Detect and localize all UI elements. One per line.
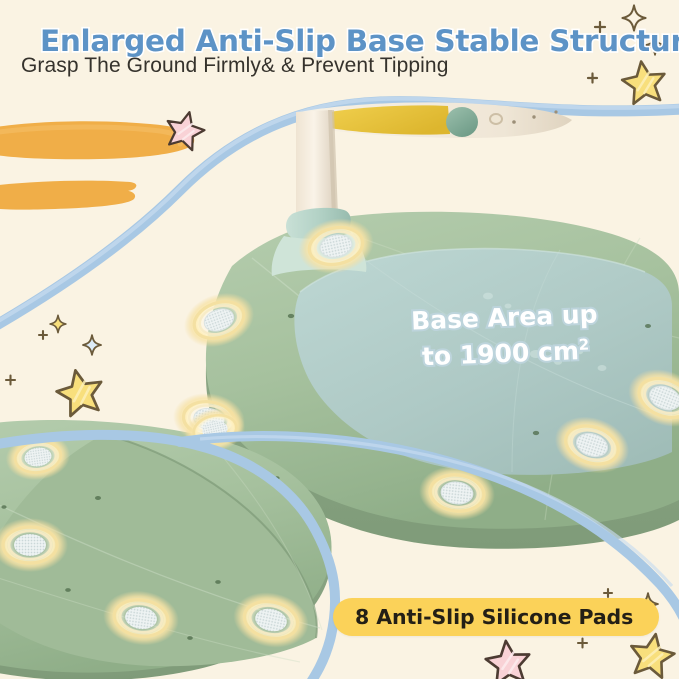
marketing-banner: Enlarged Anti-Slip Base Stable Structure…: [0, 0, 679, 679]
anti-slip-pads-banner-label: 8 Anti-Slip Silicone Pads: [355, 605, 633, 629]
base-area-line2-text: to 1900 cm: [421, 336, 579, 371]
base-area-superscript: 2: [578, 335, 589, 353]
base-area-callout: Base Area up to 1900 cm2: [379, 295, 632, 376]
page-subtitle: Grasp The Ground Firmly& & Prevent Tippi…: [21, 54, 449, 78]
anti-slip-pads-banner: 8 Anti-Slip Silicone Pads: [333, 598, 659, 636]
headline-wrapper: Enlarged Anti-Slip Base Stable Structure…: [20, 12, 679, 56]
green-knob: [446, 107, 478, 137]
page-title: Enlarged Anti-Slip Base Stable Structure…: [40, 24, 679, 58]
